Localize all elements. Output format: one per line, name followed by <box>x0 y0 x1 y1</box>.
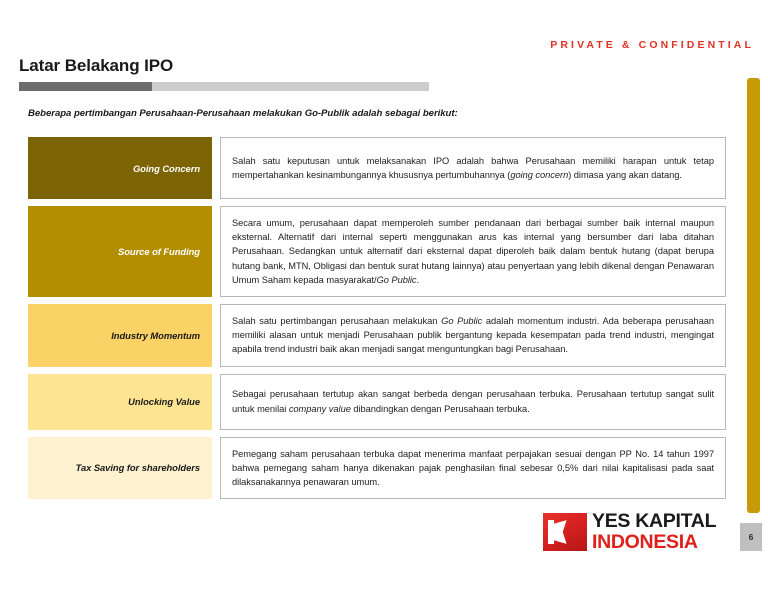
row-text-cell-going-concern: Salah satu keputusan untuk melaksanakan … <box>220 137 726 199</box>
slide-canvas: PRIVATE & CONFIDENTIAL Latar Belakang IP… <box>0 0 768 593</box>
row-label: Going Concern <box>133 163 200 174</box>
table-row: Tax Saving for shareholders Pemegang sah… <box>28 437 726 500</box>
row-label: Tax Saving for shareholders <box>76 462 200 473</box>
logo-wordmark: YES KAPITAL INDONESIA <box>592 512 716 552</box>
row-description: Secara umum, perusahaan dapat memperoleh… <box>232 216 714 287</box>
right-accent-bar <box>747 78 760 513</box>
page-number-badge: 6 <box>740 523 762 551</box>
confidential-marker: PRIVATE & CONFIDENTIAL <box>550 39 754 51</box>
row-label: Source of Funding <box>118 246 200 257</box>
row-label-cell-tax-saving: Tax Saving for shareholders <box>28 437 212 500</box>
title-underline-rule <box>19 82 429 91</box>
table-row: Going Concern Salah satu keputusan untuk… <box>28 137 726 199</box>
table-row: Industry Momentum Salah satu pertimbanga… <box>28 304 726 367</box>
row-label-cell-industry-momentum: Industry Momentum <box>28 304 212 367</box>
yes-kapital-logo-icon <box>543 513 587 551</box>
page-title: Latar Belakang IPO <box>19 56 439 76</box>
row-description: Salah satu pertimbangan perusahaan melak… <box>232 314 714 357</box>
row-description: Salah satu keputusan untuk melaksanakan … <box>232 154 714 182</box>
table-row: Unlocking Value Sebagai perusahaan tertu… <box>28 374 726 430</box>
row-description: Sebagai perusahaan tertutup akan sangat … <box>232 387 714 415</box>
title-block: Latar Belakang IPO <box>19 56 439 91</box>
row-label: Unlocking Value <box>128 396 200 407</box>
table-row: Source of Funding Secara umum, perusahaa… <box>28 206 726 297</box>
row-text-cell-industry-momentum: Salah satu pertimbangan perusahaan melak… <box>220 304 726 367</box>
row-text-cell-tax-saving: Pemegang saham perusahaan terbuka dapat … <box>220 437 726 500</box>
row-label-cell-going-concern: Going Concern <box>28 137 212 199</box>
row-description: Pemegang saham perusahaan terbuka dapat … <box>232 447 714 490</box>
logo-text-secondary: INDONESIA <box>592 533 716 553</box>
row-text-cell-unlocking-value: Sebagai perusahaan tertutup akan sangat … <box>220 374 726 430</box>
subtitle-text: Beberapa pertimbangan Perusahaan-Perusah… <box>28 108 458 119</box>
considerations-table: Going Concern Salah satu keputusan untuk… <box>28 137 726 499</box>
row-label-cell-unlocking-value: Unlocking Value <box>28 374 212 430</box>
row-label-cell-source-of-funding: Source of Funding <box>28 206 212 297</box>
logo-text-primary: YES KAPITAL <box>592 512 716 532</box>
row-text-cell-source-of-funding: Secara umum, perusahaan dapat memperoleh… <box>220 206 726 297</box>
row-label: Industry Momentum <box>111 330 200 341</box>
company-logo: YES KAPITAL INDONESIA <box>543 512 716 552</box>
